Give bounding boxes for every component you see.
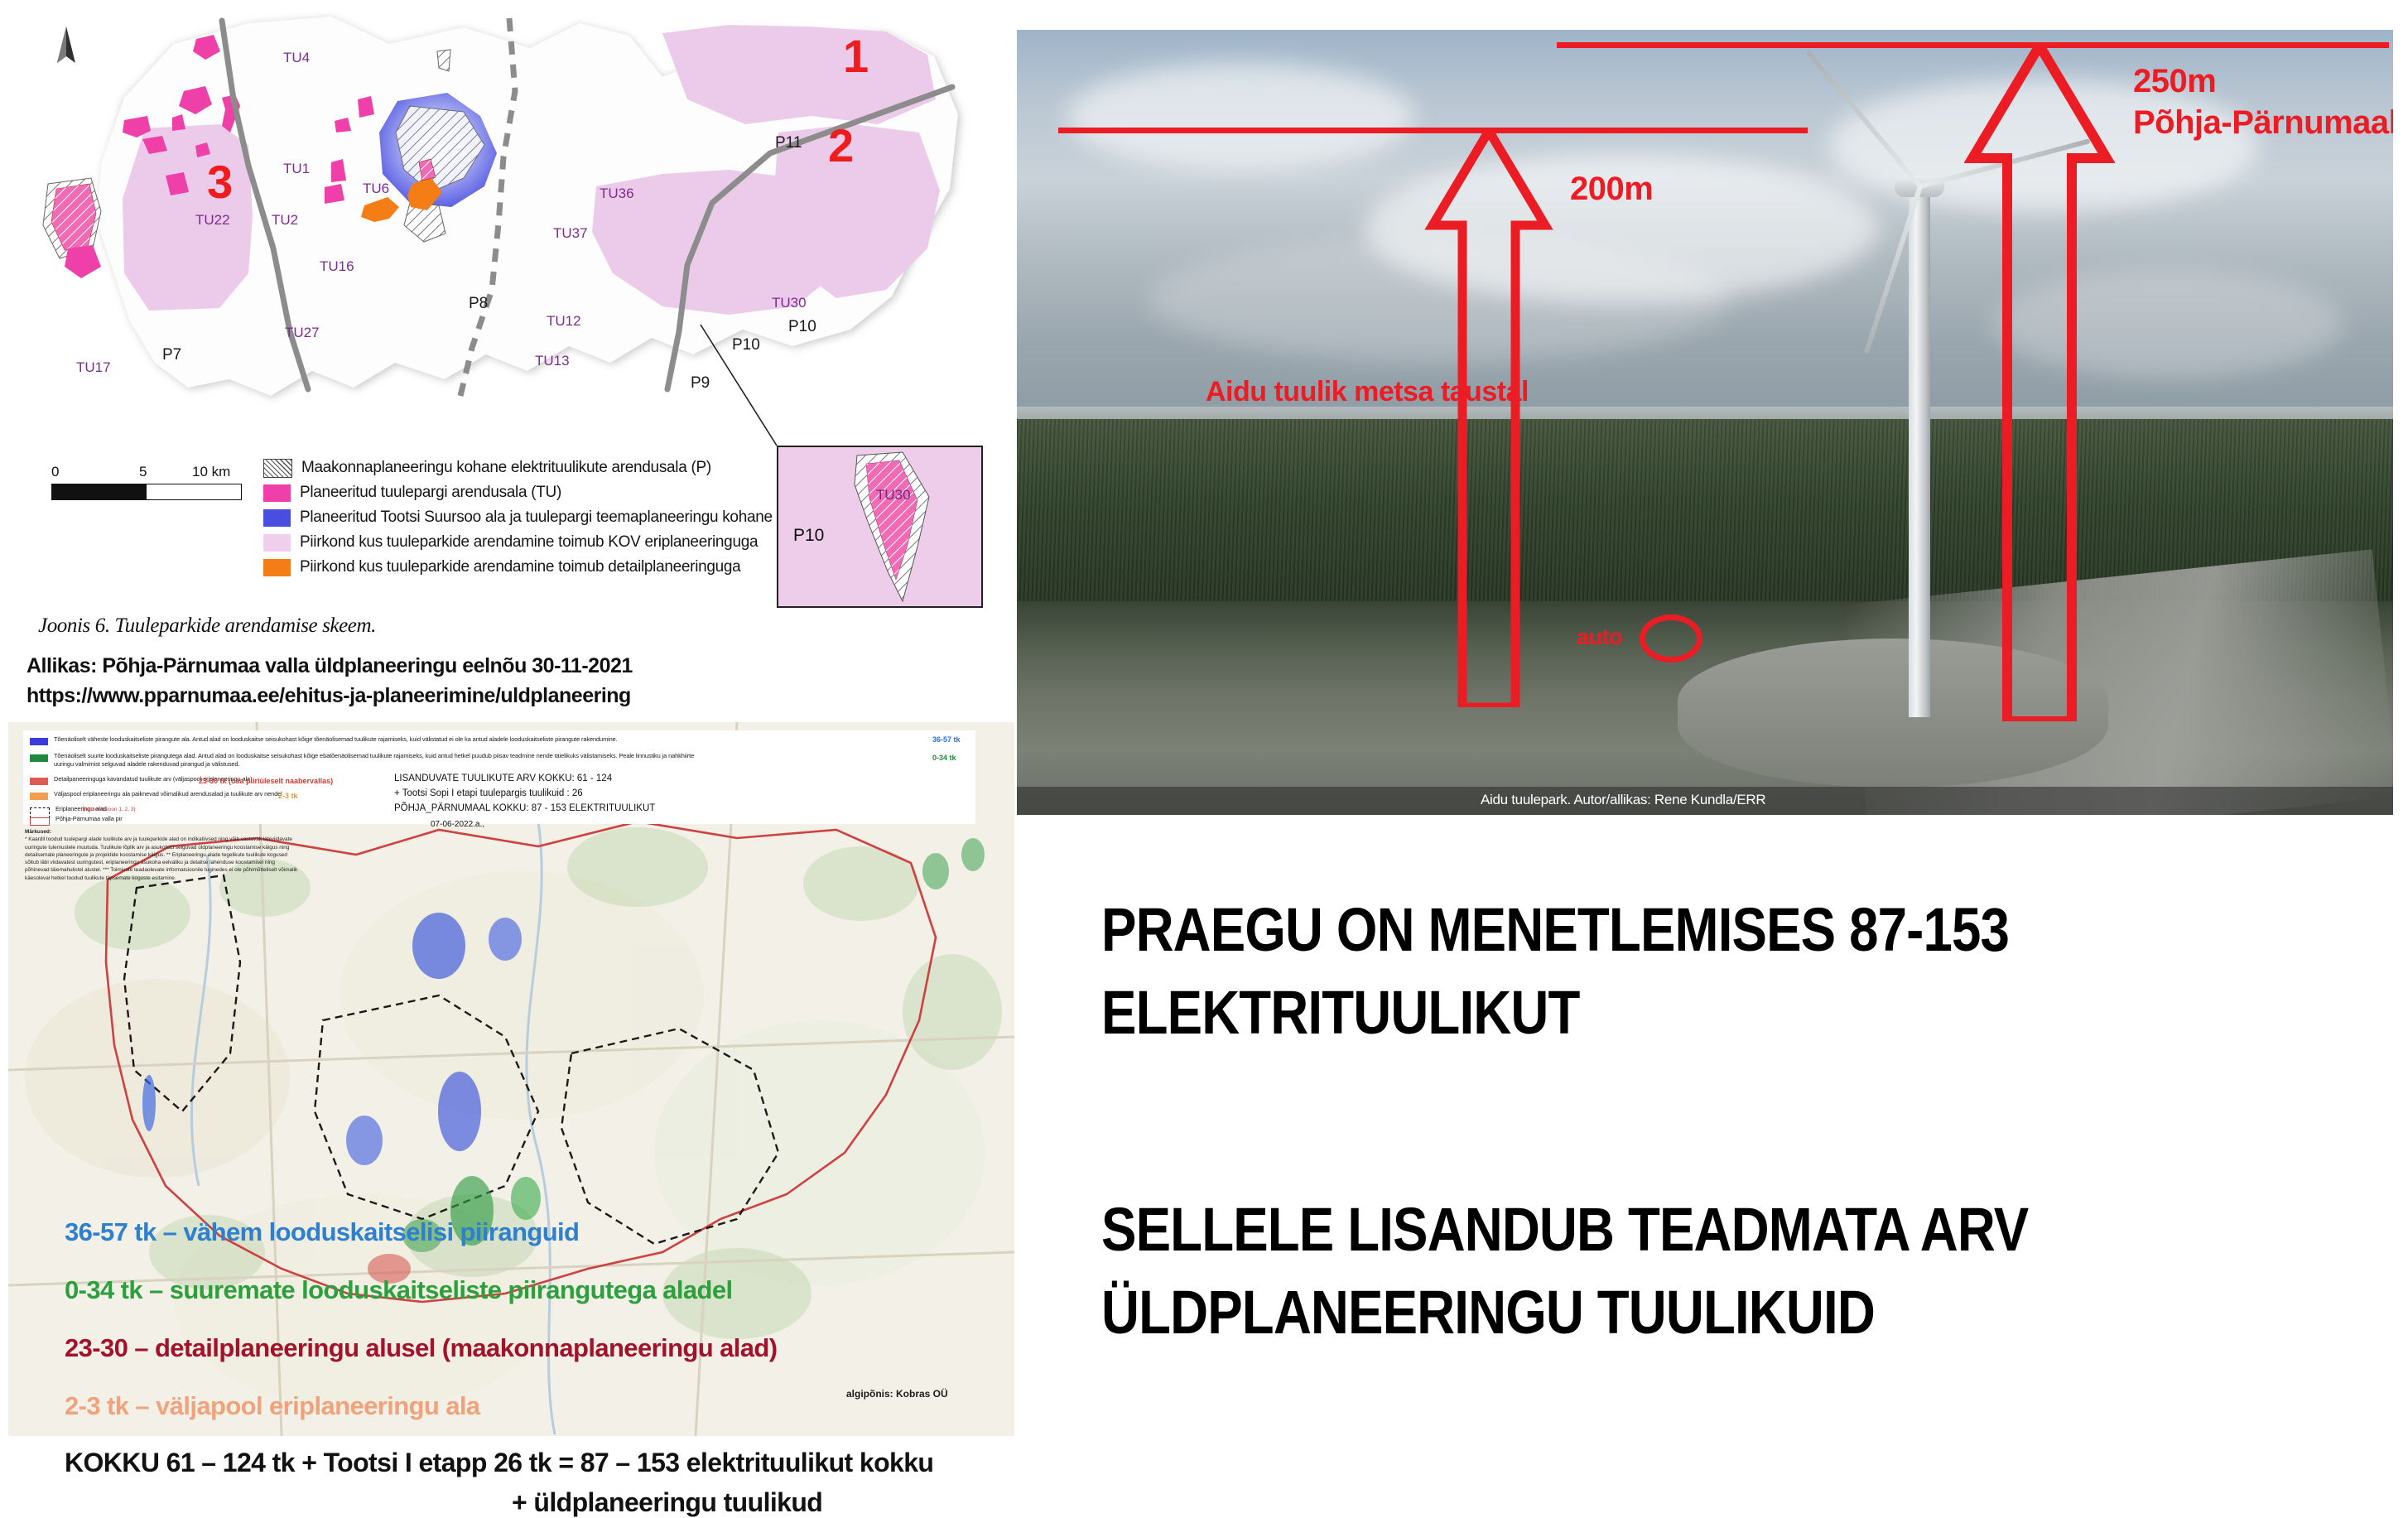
map-label-tu1: TU1 bbox=[283, 161, 310, 177]
legend-label-3: Piirkond kus tuuleparkide arendamine toi… bbox=[300, 533, 758, 552]
bottom-map-notes: Märkused: * Kaardil toodud tuulepargi al… bbox=[25, 828, 298, 882]
map-label-p10-b: P10 bbox=[788, 318, 816, 336]
forest-annotation-label: Aidu tuulik metsa taustal bbox=[1206, 376, 1529, 408]
mb-legend-text-5: Põhja-Pärnumaa valla pir bbox=[55, 815, 123, 823]
mb-legend-text-1: Tõenäoliselt suurte looduskaitseliste pi… bbox=[54, 752, 701, 769]
p11-hatch bbox=[437, 50, 450, 71]
legend-row-maakonnaplaneering: Maakonnaplaneeringu kohane elektrituulik… bbox=[263, 457, 839, 479]
mb-swatch-orange bbox=[30, 793, 48, 800]
legend-swatch-pink bbox=[263, 484, 291, 502]
map-label-p7: P7 bbox=[162, 346, 181, 364]
map-inset-p10: P10 TU30 bbox=[777, 446, 983, 608]
callout-36-57: 36-57 tk – vähem looduskaitselisi piiran… bbox=[65, 1217, 579, 1247]
mb-tag-numeration: (numeratsioon 1, 2, 3) bbox=[83, 807, 136, 812]
map-label-p8: P8 bbox=[469, 295, 488, 313]
height-label-250: 250m bbox=[2133, 63, 2216, 100]
legend-row-tuulepark-tu: Planeeritud tuulepargi arendusala (TU) bbox=[263, 482, 839, 504]
mb-tag-2-3: 2-3 tk bbox=[278, 792, 298, 800]
map-label-tu4: TU4 bbox=[283, 50, 310, 66]
top-map-legend: Maakonnaplaneeringu kohane elektrituulik… bbox=[263, 457, 839, 581]
legend-label-4: Piirkond kus tuuleparkide arendamine toi… bbox=[300, 558, 740, 576]
mb-right-line-0: LISANDUVATE TUULIKUTE ARV KOKKU: 61 - 12… bbox=[394, 773, 612, 783]
heading-line-2: ELEKTRITUULIKUT bbox=[1101, 982, 1579, 1043]
turbine-tower bbox=[1909, 187, 1930, 717]
callout-total: KOKKU 61 – 124 tk + Tootsi I etapp 26 tk… bbox=[65, 1448, 933, 1478]
region-number-2: 2 bbox=[828, 123, 854, 169]
legend-row-tootsi: Planeeritud Tootsi Suursoo ala ja tuulep… bbox=[263, 507, 839, 528]
lilac-zone-3 bbox=[123, 124, 253, 311]
mb-right-line-2: PÕHJA_PÄRNUMAAL KOKKU: 87 - 153 ELEKTRIT… bbox=[394, 803, 655, 813]
scale-tick-10: 10 km bbox=[192, 464, 230, 480]
arrow-200m-icon bbox=[1423, 128, 1555, 707]
mb-swatch-green bbox=[30, 754, 48, 762]
car-annotation-label: auto bbox=[1577, 624, 1622, 650]
inset-label-p10: P10 bbox=[793, 526, 824, 546]
region-number-3: 3 bbox=[207, 159, 233, 205]
mb-tag-36-57: 36-57 tk bbox=[932, 735, 961, 744]
map-label-tu36: TU36 bbox=[600, 186, 634, 202]
map-label-p11: P11 bbox=[775, 134, 802, 152]
map-label-tu2: TU2 bbox=[272, 212, 298, 229]
callout-23-30: 23-30 – detailplaneeringu alusel (maakon… bbox=[65, 1333, 777, 1363]
legend-label-2: Planeeritud Tootsi Suursoo ala ja tuulep… bbox=[300, 508, 839, 527]
scale-bar-graphic bbox=[51, 484, 242, 500]
map-label-tu17: TU17 bbox=[76, 359, 111, 376]
photo-credit-text: Aidu tuulepark. Autor/allikas: Rene Kund… bbox=[1481, 792, 1765, 808]
map-label-p10-a: P10 bbox=[732, 336, 760, 354]
bottom-map-figure: Tõenäoliselt väheste looduskaitseliste p… bbox=[8, 722, 1014, 1436]
heading-line-4: ÜLDPLANEERINGU TUULIKUID bbox=[1101, 1282, 1875, 1343]
map-label-tu16: TU16 bbox=[320, 258, 354, 275]
map-label-tu6: TU6 bbox=[363, 181, 389, 197]
mb-swatch-blue bbox=[30, 738, 48, 745]
heading-line-1: PRAEGU ON MENETLEMISES 87-153 bbox=[1101, 899, 2009, 961]
tu17-pink bbox=[65, 245, 101, 278]
inset-label-tu30: TU30 bbox=[876, 487, 911, 504]
mb-swatch-red bbox=[30, 778, 48, 785]
top-map-figure: 1 2 3 TU4 TU1 TU6 TU2 TU22 TU16 TU27 TU1… bbox=[0, 0, 1004, 722]
mb-right-line-1: + Tootsi Sopi I etapi tuulepargis tuulik… bbox=[394, 788, 583, 798]
callout-0-34: 0-34 tk – suuremate looduskaitseliste pi… bbox=[65, 1275, 733, 1305]
bottom-map-credit: algipõnis: Kobras OÜ bbox=[846, 1388, 948, 1400]
figure-caption: Joonis 6. Tuuleparkide arendamise skeem. bbox=[38, 614, 376, 638]
legend-row-kov: Piirkond kus tuuleparkide arendamine toi… bbox=[263, 532, 839, 553]
north-arrow-icon bbox=[50, 25, 83, 83]
callout-2-3: 2-3 tk – väljapool eriplaneeringu ala bbox=[65, 1391, 480, 1421]
mb-legend-text-0: Tõenäoliselt väheste looduskaitseliste p… bbox=[54, 735, 618, 744]
mb-legend-text-3: Väljaspool eriplaneeringu ala paiknevad … bbox=[54, 790, 282, 798]
mb-tag-23-30: 23-30 tk (osa piiriüleselt naabervallas) bbox=[199, 777, 333, 785]
mb-legend-row-1: Tõenäoliselt suurte looduskaitseliste pi… bbox=[30, 752, 701, 769]
bottom-map-legend-box: Tõenäoliselt väheste looduskaitseliste p… bbox=[23, 730, 975, 824]
legend-label-0: Maakonnaplaneeringu kohane elektrituulik… bbox=[301, 459, 711, 477]
map-label-tu12: TU12 bbox=[547, 313, 581, 330]
legend-row-detail: Piirkond kus tuuleparkide arendamine toi… bbox=[263, 557, 839, 578]
callout-total-2: + üldplaneeringu tuulikud bbox=[512, 1487, 822, 1518]
mb-tag-0-34: 0-34 tk bbox=[932, 754, 956, 762]
heading-line-3: SELLELE LISANDUB TEADMATA ARV bbox=[1101, 1199, 2028, 1260]
map-label-p9: P9 bbox=[691, 374, 710, 393]
scale-tick-5: 5 bbox=[139, 464, 147, 480]
mb-swatch-border bbox=[30, 817, 50, 826]
legend-label-1: Planeeritud tuulepargi arendusala (TU) bbox=[300, 484, 561, 502]
scale-tick-0: 0 bbox=[51, 464, 59, 480]
region-number-1: 1 bbox=[843, 33, 869, 80]
notes-title: Märkused: bbox=[25, 828, 298, 836]
height-label-250-sub: Põhja-Pärnumaal bbox=[2133, 104, 2393, 142]
legend-swatch-blue bbox=[263, 509, 291, 527]
map-scale-bar: 0 5 10 km bbox=[51, 464, 242, 500]
mb-legend-row-0: Tõenäoliselt väheste looduskaitseliste p… bbox=[30, 735, 701, 745]
map-label-tu37: TU37 bbox=[553, 225, 588, 242]
map-label-tu30: TU30 bbox=[772, 295, 807, 311]
figure-source-caption: Allikas: Põhja-Pärnumaa valla üldplaneer… bbox=[26, 654, 633, 678]
mb-right-date: 07-06-2022.a., bbox=[431, 820, 484, 829]
cloud-1 bbox=[1067, 63, 1414, 171]
legend-swatch-lilac bbox=[263, 534, 291, 552]
legend-swatch-hatch bbox=[263, 459, 292, 478]
wind-turbine-photo: 200m 250m Põhja-Pärnumaal Aidu tuulik me… bbox=[1017, 30, 2393, 815]
height-label-200: 200m bbox=[1570, 171, 1653, 208]
photo-credit-bar: Aidu tuulepark. Autor/allikas: Rene Kund… bbox=[1017, 787, 2393, 815]
figure-source-url: https://www.pparnumaa.ee/ehitus-ja-plane… bbox=[26, 684, 631, 708]
mb-legend-row-5: Põhja-Pärnumaa valla pir bbox=[30, 815, 123, 826]
notes-body: * Kaardil toodud tuulepargi alade tuulik… bbox=[25, 836, 298, 882]
legend-swatch-orange bbox=[263, 559, 291, 576]
arrow-250m-icon bbox=[1961, 42, 2118, 721]
map-label-tu22: TU22 bbox=[195, 212, 230, 229]
map-label-tu13: TU13 bbox=[535, 353, 570, 369]
map-label-tu27: TU27 bbox=[285, 325, 320, 341]
car-highlight-circle bbox=[1640, 614, 1702, 663]
